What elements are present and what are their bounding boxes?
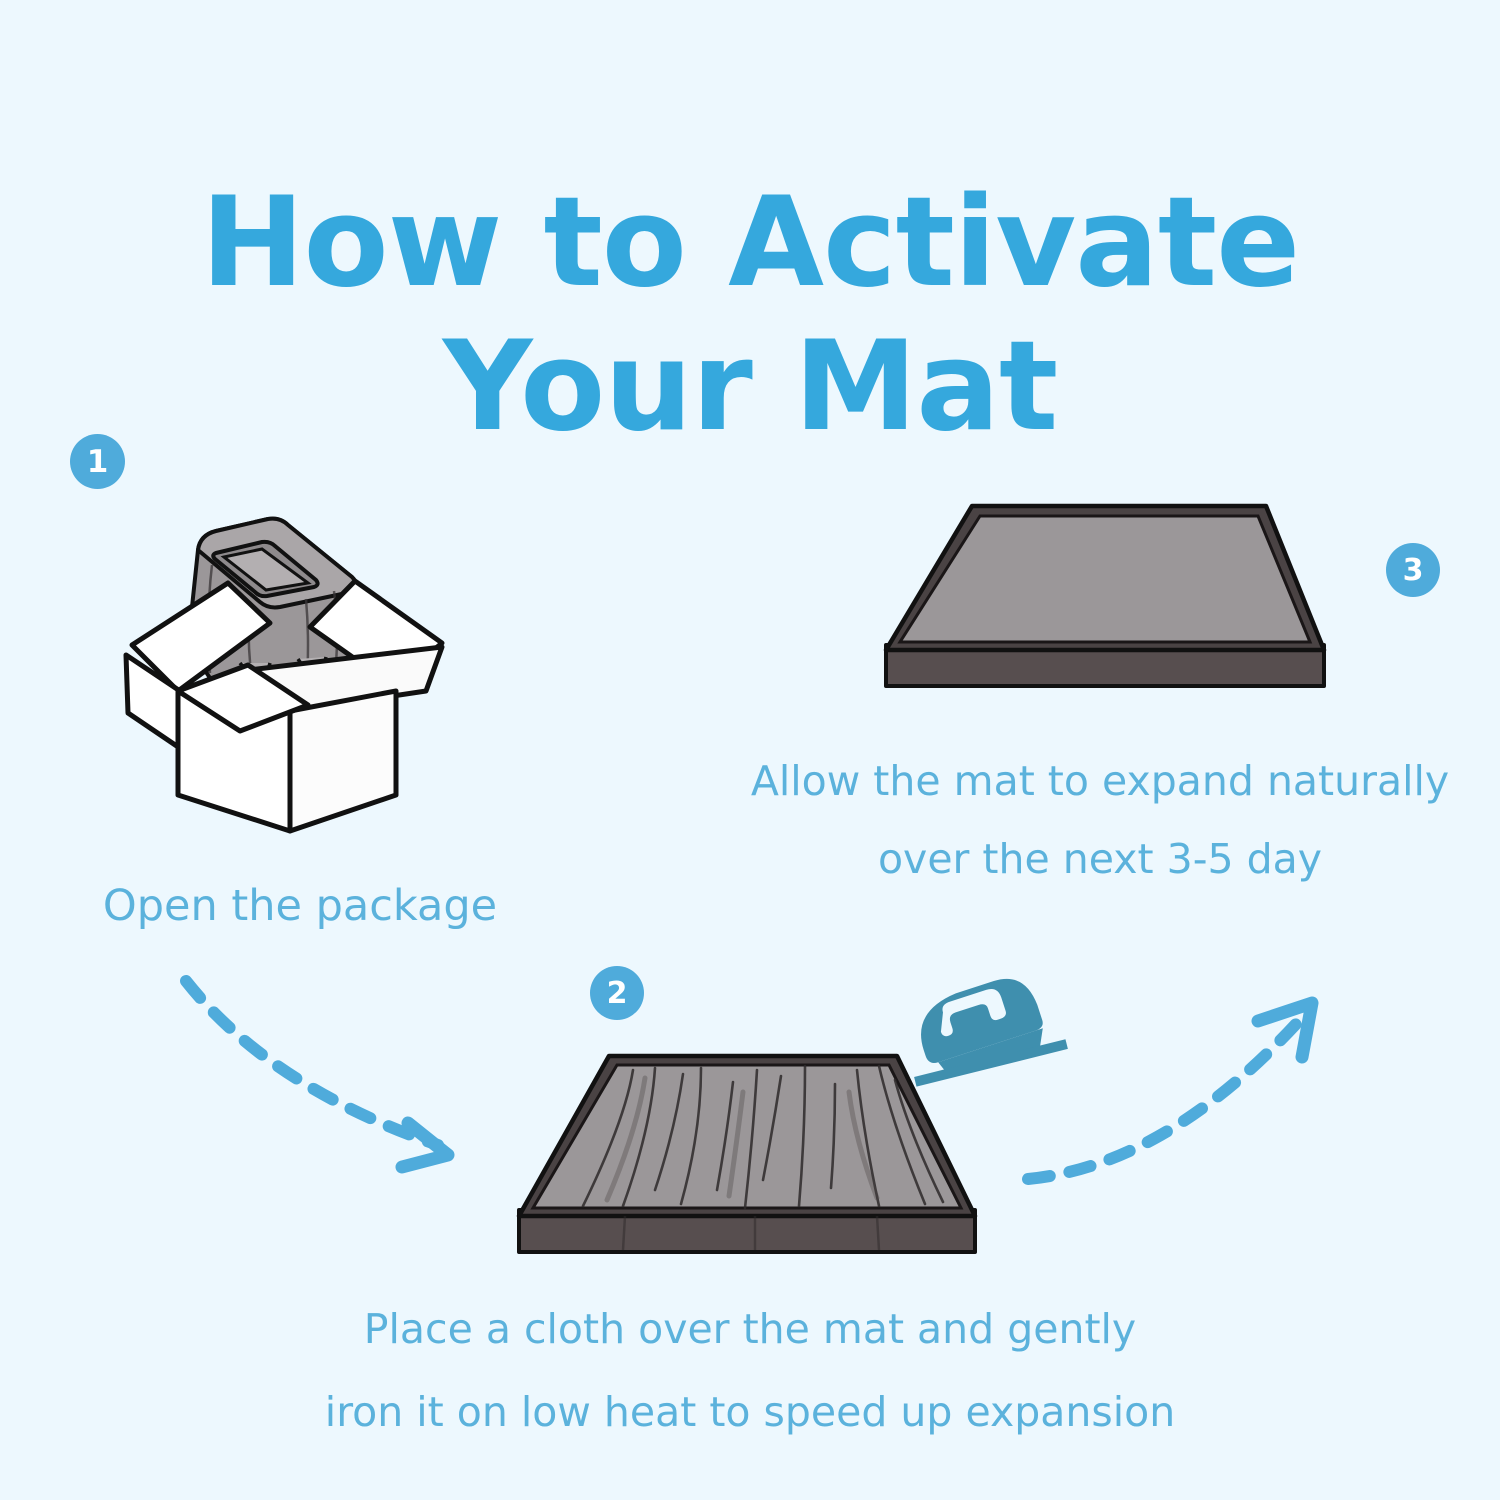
step-2-caption-line-2: iron it on low heat to speed up expansio… (250, 1371, 1250, 1454)
title-line-1: How to Activate (201, 171, 1299, 315)
dashed-arrow-down-right-icon (180, 975, 480, 1185)
open-box-illustration (120, 495, 460, 845)
step-badge-2: 2 (590, 966, 644, 1020)
infographic-canvas: How to Activate Your Mat 1 (0, 0, 1500, 1500)
step-3-caption-line-1: Allow the mat to expand naturally (700, 742, 1500, 820)
step-2-caption: Place a cloth over the mat and gently ir… (250, 1288, 1250, 1454)
step-3-caption: Allow the mat to expand naturally over t… (700, 742, 1500, 898)
page-title: How to Activate Your Mat (0, 171, 1500, 459)
step-3-caption-line-2: over the next 3-5 day (700, 820, 1500, 898)
step-1-caption-line-1: Open the package (40, 878, 560, 934)
step-badge-3: 3 (1386, 543, 1440, 597)
flat-mat-illustration (860, 490, 1350, 710)
step-2-caption-line-1: Place a cloth over the mat and gently (250, 1288, 1250, 1371)
step-badge-2-number: 2 (607, 976, 628, 1011)
dashed-arrow-up-right-icon (1020, 995, 1330, 1195)
title-line-2: Your Mat (0, 315, 1500, 459)
step-1-caption: Open the package (40, 878, 560, 934)
step-badge-3-number: 3 (1403, 553, 1424, 588)
step-badge-1: 1 (70, 434, 125, 489)
step-badge-1-number: 1 (87, 444, 109, 480)
